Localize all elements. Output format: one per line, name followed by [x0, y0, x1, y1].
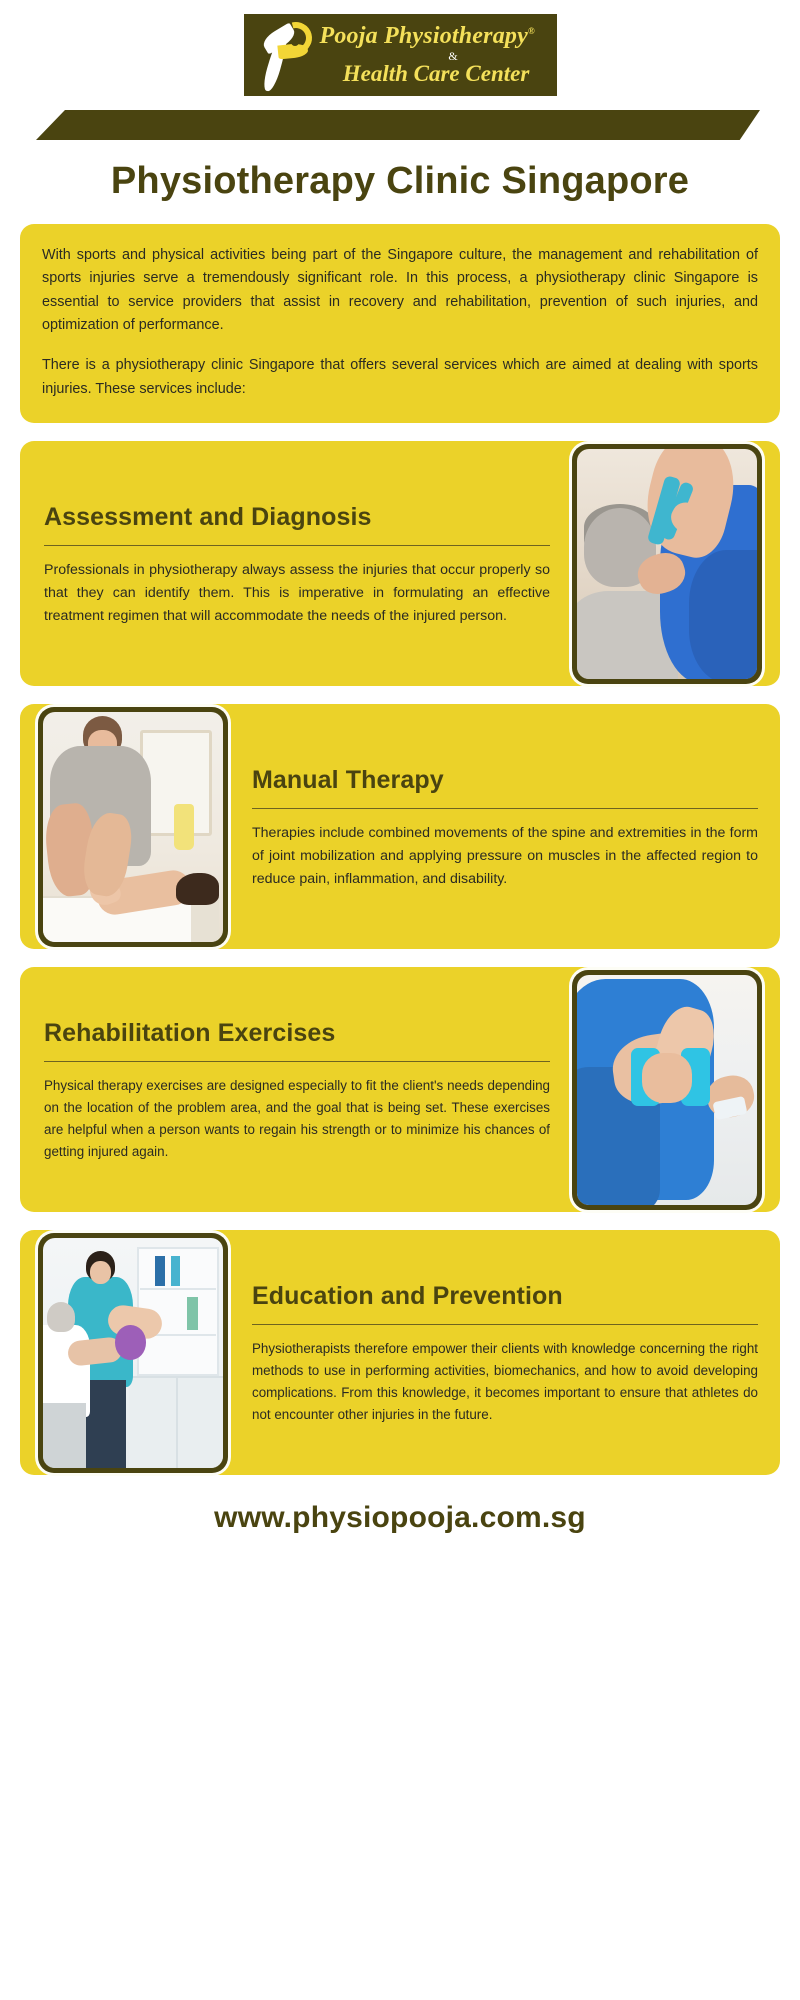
- dumbbell-exercise-photo: [577, 975, 757, 1205]
- shoulder-taping-photo: [577, 449, 757, 679]
- service-card-education: Education and Prevention Physiotherapist…: [20, 1230, 780, 1475]
- intro-card: With sports and physical activities bein…: [20, 224, 780, 423]
- service-photo-frame: [572, 444, 762, 684]
- service-card-rehabilitation: Rehabilitation Exercises Physical therap…: [20, 967, 780, 1212]
- service-card-manual-therapy: Manual Therapy Therapies include combine…: [20, 704, 780, 949]
- service-body: Rehabilitation Exercises Physical therap…: [20, 967, 572, 1212]
- heading-divider: [44, 1061, 550, 1062]
- heading-divider: [252, 808, 758, 809]
- service-text: Physiotherapists therefore empower their…: [252, 1338, 758, 1425]
- service-photo-frame: [572, 970, 762, 1210]
- service-card-assessment: Assessment and Diagnosis Professionals i…: [20, 441, 780, 686]
- service-text: Professionals in physiotherapy always as…: [44, 559, 550, 628]
- service-photo-frame: [38, 707, 228, 947]
- service-heading: Rehabilitation Exercises: [44, 1018, 550, 1048]
- registered-trademark-icon: ®: [528, 26, 535, 36]
- logo-text-block: Pooja Physiotherapy® & Health Care Cente…: [320, 24, 557, 86]
- infographic-page: Pooja Physiotherapy® & Health Care Cente…: [0, 0, 800, 2000]
- heading-divider: [44, 545, 550, 546]
- service-heading: Assessment and Diagnosis: [44, 502, 550, 532]
- logo-brand-name: Pooja Physiotherapy: [320, 23, 528, 49]
- logo-line-1: Pooja Physiotherapy®: [320, 24, 547, 49]
- intro-paragraph-1: With sports and physical activities bein…: [42, 244, 758, 337]
- patient-education-photo: [43, 1238, 223, 1468]
- logo-container: Pooja Physiotherapy® & Health Care Cente…: [20, 0, 780, 96]
- service-body: Assessment and Diagnosis Professionals i…: [20, 441, 572, 686]
- decorative-banner-bar: [36, 110, 760, 140]
- clinic-logo: Pooja Physiotherapy® & Health Care Cente…: [244, 14, 557, 96]
- footer-website-url[interactable]: www.physiopooja.com.sg: [20, 1475, 780, 1535]
- service-heading: Manual Therapy: [252, 765, 758, 795]
- service-heading: Education and Prevention: [252, 1281, 758, 1311]
- intro-paragraph-2: There is a physiotherapy clinic Singapor…: [42, 354, 758, 401]
- heading-divider: [252, 1324, 758, 1325]
- physiotherapy-figure-icon: [244, 14, 320, 96]
- service-photo-frame: [38, 1233, 228, 1473]
- service-body: Manual Therapy Therapies include combine…: [228, 704, 780, 949]
- page-title: Physiotherapy Clinic Singapore: [20, 140, 780, 206]
- service-text: Therapies include combined movements of …: [252, 822, 758, 891]
- logo-line-2: Health Care Center: [320, 62, 547, 86]
- service-body: Education and Prevention Physiotherapist…: [228, 1230, 780, 1475]
- service-text: Physical therapy exercises are designed …: [44, 1075, 550, 1162]
- leg-manual-therapy-photo: [43, 712, 223, 942]
